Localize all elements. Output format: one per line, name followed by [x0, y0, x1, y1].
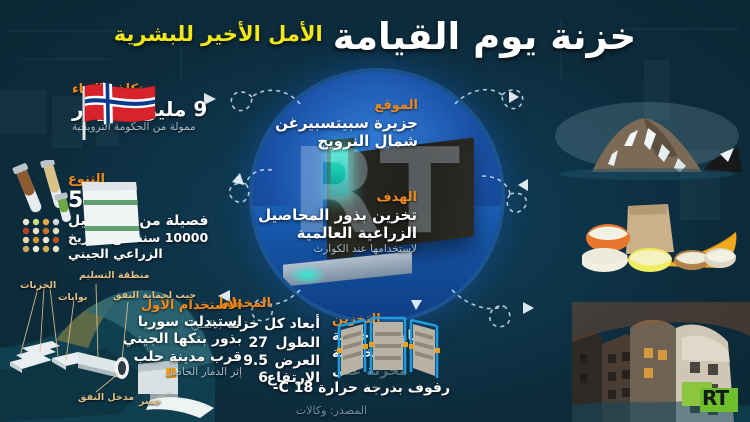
plan-row-label: العرض: [276, 353, 320, 371]
callout-goal-note: لاستخدامها عند الكوارث: [242, 243, 417, 256]
norway-flag-icon: [75, 80, 159, 142]
crops-grains-icon: [582, 190, 742, 272]
callout-goal-heading: الهدف: [242, 190, 417, 206]
diagram-label-delivery-area: منطقة التسليم: [79, 270, 150, 281]
callout-goal-line2: الزراعية العالمية: [242, 224, 417, 243]
title-highlight: الأمل الأخير للبشرية: [114, 24, 323, 48]
callout-first-use-note: إثر الدمار الحاصل: [90, 366, 242, 379]
callout-location-line2: شمال النرويج: [248, 132, 418, 151]
arrowhead-location: [509, 91, 519, 103]
diagram-label-tunnel-pocket: جيب لحماية النفق: [113, 290, 196, 301]
callout-location-line1: جزيرة سبيتسبيرغن: [248, 114, 418, 133]
rt-logo: RT: [682, 382, 738, 412]
mountain-island-icon: [552, 100, 742, 180]
diagram-label-bridge: جسر: [139, 396, 161, 407]
diagram-label-vaults: الخزنات: [20, 280, 56, 291]
callout-first-use: الاستخدام الأول استبدلت سوريا بذور بنكها…: [90, 298, 242, 379]
vault-light-artwork: [331, 149, 348, 196]
diagram-label-tunnel-entry: مدخل النفق: [78, 392, 134, 403]
plan-row-label: الطول: [276, 335, 320, 353]
arrowhead-first-use: [523, 302, 534, 314]
vault-teal-glow: [288, 265, 328, 285]
seed-color-grid: [23, 219, 59, 252]
callout-first-use-line1: استبدلت سوريا: [90, 314, 242, 332]
seed-packet: [82, 182, 140, 246]
title-main: خزنة يوم القيامة: [333, 18, 637, 55]
callout-location: الموقع جزيرة سبيتسبيرغن شمال النرويج: [248, 98, 418, 151]
callout-first-use-line3: قرب مدينة حلب: [90, 349, 242, 367]
plan-row-value: 9.5: [243, 353, 268, 371]
callout-location-heading: الموقع: [248, 98, 418, 114]
callout-goal: الهدف تخزين بذور المحاصيل الزراعية العال…: [242, 190, 417, 256]
plan-row-value: 6: [258, 370, 268, 388]
arrowhead-goal: [518, 179, 528, 191]
callout-first-use-line2: بذور بنكها الجيني: [90, 331, 242, 349]
storage-shelves-icon: [333, 302, 443, 388]
infographic-canvas: خزنة يوم القيامة الأمل الأخير للبشرية RT: [0, 0, 750, 422]
diagram-label-gates: بوابات: [58, 292, 87, 303]
callout-goal-line1: تخزين بذور المحاصيل: [242, 206, 417, 225]
plan-row-value: 27: [249, 335, 268, 353]
seed-samples-icon: [10, 160, 145, 256]
rt-logo-text: RT: [702, 386, 728, 410]
source-credit: المصدر: وكالات: [296, 404, 367, 417]
infographic-title: خزنة يوم القيامة الأمل الأخير للبشرية: [0, 8, 750, 64]
